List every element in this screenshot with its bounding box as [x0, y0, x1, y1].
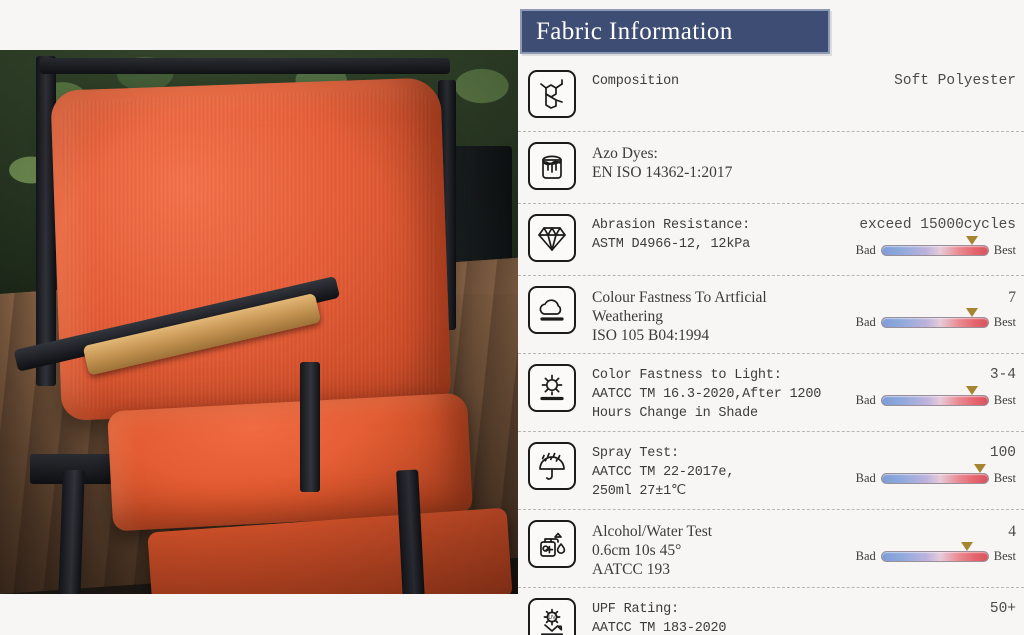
rating-scale-marker	[974, 464, 986, 473]
fabric-spec-row: Spray Test: AATCC TM 22-2017e, 250ml 27±…	[518, 432, 1024, 510]
fabric-spec-row: Color Fastness to Light: AATCC TM 16.3-2…	[518, 354, 1024, 432]
fabric-spec-row: Colour Fastness To Artficial Weathering …	[518, 276, 1024, 354]
rating-scale-low-label: Bad	[856, 243, 876, 258]
spec-value: 4	[1008, 518, 1016, 541]
fabric-spec-row: Alcohol/Water Test 0.6cm 10s 45° AATCC 1…	[518, 510, 1024, 588]
fabric-spec-row: CompositionSoft Polyester	[518, 60, 1024, 132]
fabric-info-panel: Fabric Information CompositionSoft Polye…	[518, 0, 1024, 635]
spec-label-cell: Spray Test: AATCC TM 22-2017e, 250ml 27±…	[576, 440, 834, 501]
rating-scale-high-label: Best	[994, 549, 1016, 564]
spec-label: Composition	[592, 72, 834, 91]
page-title: Fabric Information	[536, 18, 733, 46]
spec-value-cell: 4BadBest	[834, 518, 1024, 564]
spec-label-cell: Colour Fastness To Artficial Weathering …	[576, 284, 834, 345]
fabric-spec-row: Azo Dyes: EN ISO 14362-1:2017	[518, 132, 1024, 204]
panel-title-bar: Fabric Information	[520, 9, 830, 54]
spec-value-cell: 7BadBest	[834, 284, 1024, 330]
spec-value: exceed 15000cycles	[859, 212, 1016, 235]
rating-scale-high-label: Best	[994, 243, 1016, 258]
photo-vignette	[0, 50, 518, 594]
spec-label: Abrasion Resistance: ASTM D4966-12, 12kP…	[592, 216, 834, 254]
spec-value: Soft Polyester	[894, 68, 1016, 91]
sanitizer-bottle-icon	[528, 520, 576, 568]
rating-scale-high-label: Best	[994, 315, 1016, 330]
product-photo	[0, 50, 518, 594]
spec-label: Azo Dyes: EN ISO 14362-1:2017	[592, 144, 834, 182]
spec-value: 7	[1008, 284, 1016, 307]
rating-scale-high-label: Best	[994, 393, 1016, 408]
product-photo-image	[0, 50, 518, 594]
spec-value-cell: 100BadBest	[834, 440, 1024, 486]
fabric-information-page: Fabric Information CompositionSoft Polye…	[0, 0, 1024, 635]
spec-value-cell: Soft Polyester	[834, 68, 1024, 91]
fabric-spec-list: CompositionSoft Polyester Azo Dyes: EN I…	[518, 60, 1024, 635]
cloud-icon	[528, 286, 576, 334]
spec-value-cell	[834, 140, 1024, 144]
rating-scale-marker	[961, 542, 973, 551]
spec-label-cell: Alcohol/Water Test 0.6cm 10s 45° AATCC 1…	[576, 518, 834, 579]
rating-scale-track	[881, 245, 989, 256]
spec-label: UPF Rating: AATCC TM 183-2020	[592, 600, 834, 635]
rating-scale-low-label: Bad	[856, 315, 876, 330]
spec-label-cell: UPF Rating: AATCC TM 183-2020	[576, 596, 834, 635]
paint-bucket-icon	[528, 142, 576, 190]
molecule-icon	[528, 70, 576, 118]
rating-scale-low-label: Bad	[856, 393, 876, 408]
rating-scale-low-label: Bad	[856, 471, 876, 486]
spec-value: 3-4	[990, 362, 1016, 385]
spec-value: 100	[990, 440, 1016, 463]
uv-protection-icon: UV	[528, 598, 576, 635]
svg-text:UV: UV	[548, 615, 556, 621]
rating-scale-track	[881, 317, 989, 328]
rating-scale: BadBest	[856, 307, 1016, 330]
spec-label-cell: Abrasion Resistance: ASTM D4966-12, 12kP…	[576, 212, 834, 254]
rating-scale-marker	[966, 308, 978, 317]
umbrella-rain-icon	[528, 442, 576, 490]
rating-scale-low-label: Bad	[856, 549, 876, 564]
rating-scale-marker	[966, 386, 978, 395]
spec-label: Color Fastness to Light: AATCC TM 16.3-2…	[592, 366, 834, 423]
rating-scale: BadBest	[856, 235, 1016, 258]
rating-scale-track	[881, 473, 989, 484]
spec-value: 50+	[990, 596, 1016, 619]
rating-scale-track	[881, 395, 989, 406]
spec-label: Spray Test: AATCC TM 22-2017e, 250ml 27±…	[592, 444, 834, 501]
fabric-spec-row: UV UPF Rating: AATCC TM 183-202050+	[518, 588, 1024, 635]
rating-scale: BadBest	[856, 463, 1016, 486]
rating-scale: BadBest	[856, 385, 1016, 408]
fabric-spec-row: Abrasion Resistance: ASTM D4966-12, 12kP…	[518, 204, 1024, 276]
rating-scale-marker	[966, 236, 978, 245]
spec-value-cell: exceed 15000cyclesBadBest	[834, 212, 1024, 258]
rating-scale-track	[881, 551, 989, 562]
rating-scale-high-label: Best	[994, 471, 1016, 486]
spec-value-cell: 50+	[834, 596, 1024, 619]
spec-label-cell: Color Fastness to Light: AATCC TM 16.3-2…	[576, 362, 834, 423]
diamond-icon	[528, 214, 576, 262]
spec-value-cell: 3-4BadBest	[834, 362, 1024, 408]
spec-label-cell: Azo Dyes: EN ISO 14362-1:2017	[576, 140, 834, 182]
rating-scale: BadBest	[856, 541, 1016, 564]
spec-label: Alcohol/Water Test 0.6cm 10s 45° AATCC 1…	[592, 522, 834, 579]
spec-label: Colour Fastness To Artficial Weathering …	[592, 288, 834, 345]
spec-label-cell: Composition	[576, 68, 834, 91]
sun-icon	[528, 364, 576, 412]
